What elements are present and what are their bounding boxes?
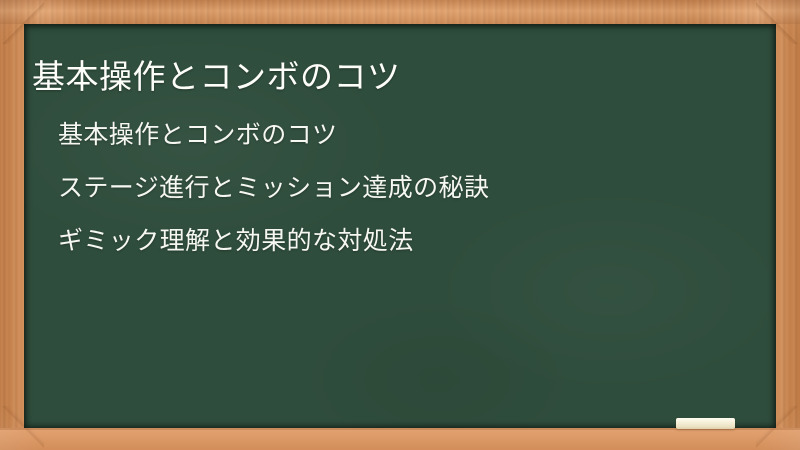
slide-content: 基本操作とコンボのコツ 基本操作とコンボのコツ ステージ進行とミッション達成の秘…	[24, 24, 776, 428]
list-item-label: 基本操作とコンボのコツ	[58, 122, 337, 147]
list-item: ギミック理解と効果的な対処法	[58, 214, 748, 267]
bullet-list: 基本操作とコンボのコツ ステージ進行とミッション達成の秘訣 ギミック理解と効果的…	[58, 108, 748, 267]
slide-title: 基本操作とコンボのコツ	[32, 56, 762, 97]
chalkboard-surface: 基本操作とコンボのコツ 基本操作とコンボのコツ ステージ進行とミッション達成の秘…	[24, 24, 776, 428]
wood-frame-top-rail	[0, 0, 800, 24]
list-item: ステージ進行とミッション達成の秘訣	[58, 161, 748, 214]
chalk-stick-icon	[676, 418, 735, 429]
list-item-label: ステージ進行とミッション達成の秘訣	[58, 175, 489, 200]
list-item-label: ギミック理解と効果的な対処法	[58, 228, 414, 253]
list-item: 基本操作とコンボのコツ	[58, 108, 748, 161]
wood-frame-chalk-tray	[0, 428, 800, 450]
chalkboard-slide: 基本操作とコンボのコツ 基本操作とコンボのコツ ステージ進行とミッション達成の秘…	[0, 0, 800, 450]
